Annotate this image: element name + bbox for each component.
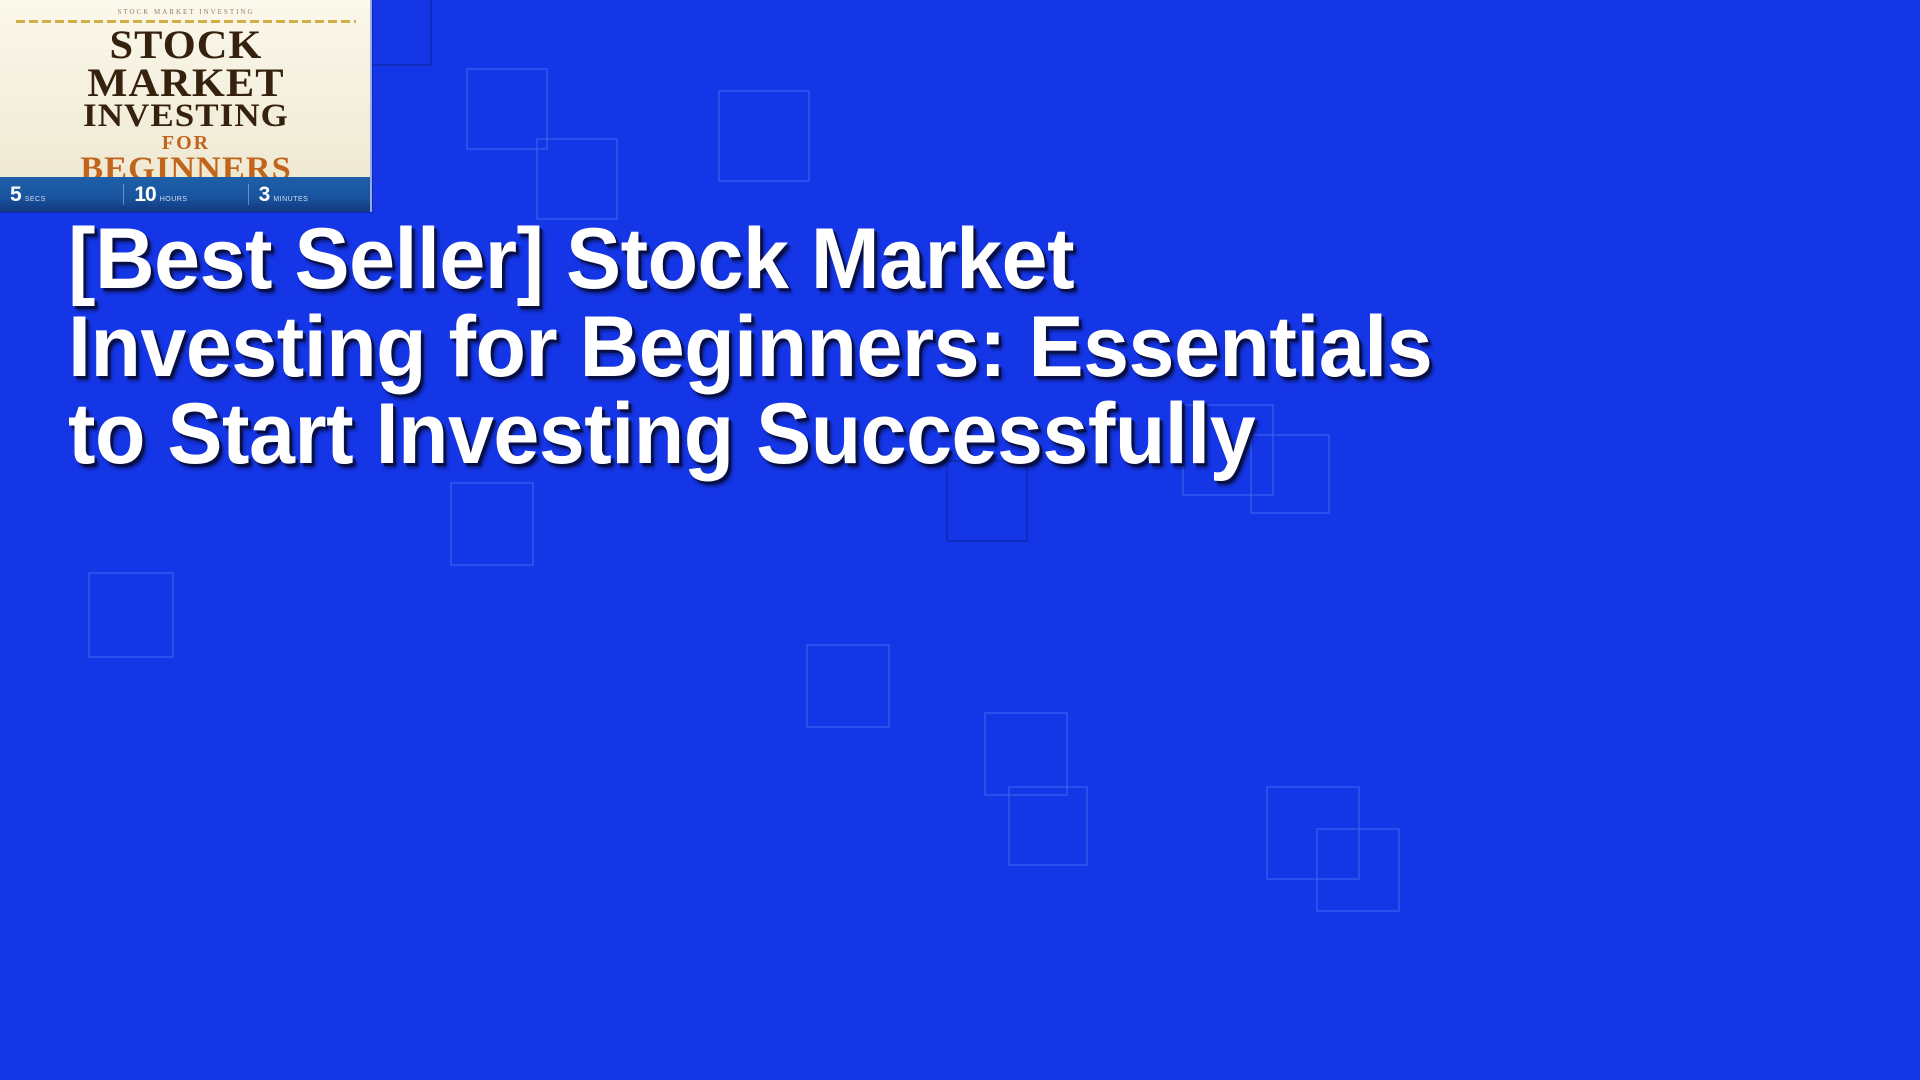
- cover-stat-number: 5: [10, 184, 21, 205]
- cover-stats-bar: 5 SECS 10 HOURS 3 MINUTES: [0, 177, 372, 212]
- cover-stat-item: 3 MINUTES: [248, 184, 372, 205]
- decor-square: [718, 90, 810, 182]
- decor-square: [806, 644, 890, 728]
- cover-stat-label: HOURS: [160, 196, 188, 203]
- decor-square: [1316, 828, 1400, 912]
- page-title: [Best Seller] Stock Market Investing for…: [68, 216, 1868, 479]
- cover-top-text: STOCK MARKET INVESTING: [14, 8, 358, 16]
- title-line-2: Investing for Beginners: Essentials: [68, 304, 1796, 392]
- cover-title-line-1: STOCK: [4, 26, 369, 64]
- decor-square: [984, 712, 1068, 796]
- title-line-3: to Start Investing Successfully: [68, 391, 1796, 479]
- title-line-1: [Best Seller] Stock Market: [68, 216, 1796, 304]
- cover-stat-label: MINUTES: [273, 196, 308, 203]
- decor-square: [450, 482, 534, 566]
- cover-title-line-3: INVESTING: [4, 101, 369, 132]
- decor-square: [88, 572, 174, 658]
- cover-title-line-5: BEGINNERS: [7, 153, 365, 177]
- decor-square: [1008, 786, 1088, 866]
- book-cover-artwork: STOCK MARKET INVESTING STOCK MARKET INVE…: [0, 0, 372, 177]
- cover-title-line-2: MARKET: [4, 64, 369, 102]
- decor-square: [536, 138, 618, 220]
- cover-stat-label: SECS: [25, 196, 46, 203]
- cover-stat-item: 5 SECS: [0, 184, 123, 205]
- book-cover-thumbnail: STOCK MARKET INVESTING STOCK MARKET INVE…: [0, 0, 372, 212]
- cover-stat-number: 3: [259, 184, 270, 205]
- cover-stat-number: 10: [134, 184, 155, 205]
- cover-stat-item: 10 HOURS: [123, 184, 247, 205]
- cover-title-line-4: FOR: [14, 133, 358, 153]
